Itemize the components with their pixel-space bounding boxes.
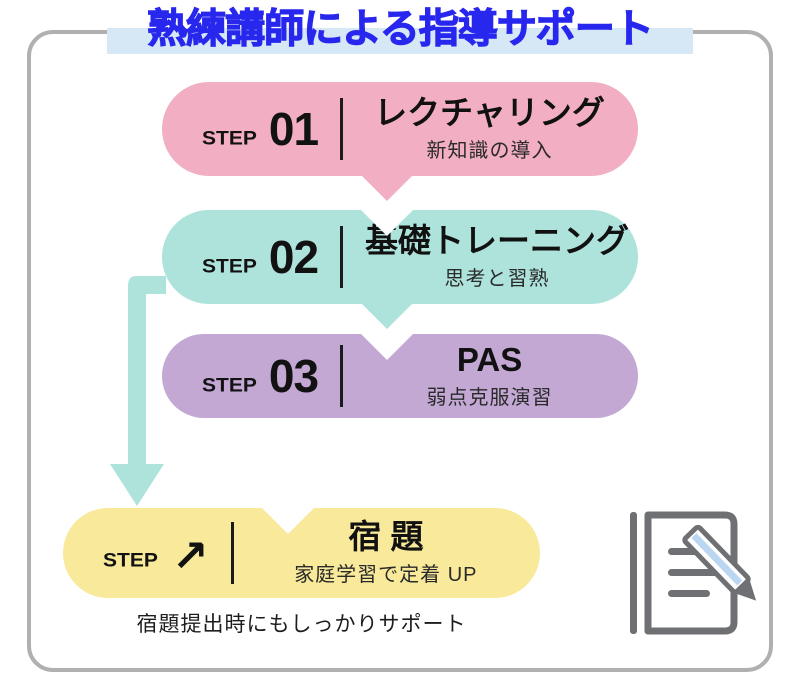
step-03-label: STEP 03 [162,353,318,399]
step-card-homework-top-notch [262,508,314,534]
notebook-pencil-icon [624,496,784,651]
step-01-label: STEP 01 [162,106,318,152]
step-word: STEP [103,550,158,572]
step-number: 02 [269,234,318,280]
step-03-divider [340,345,343,407]
step-card-01[interactable]: STEP 01 レクチャリング 新知識の導入 [162,82,638,176]
step-01-heading: レクチャリング [365,95,614,131]
step-homework-subheading: 家庭学習で定着 UP [256,558,516,587]
step-word: STEP [202,128,257,150]
step-number: 03 [269,353,318,399]
step-02-divider [340,226,343,288]
step-word: STEP [202,256,257,278]
step-01-subheading: 新知識の導入 [365,134,614,163]
step-number: 01 [269,106,318,152]
arrow-down-step02-icon [361,303,413,329]
step-01-text: レクチャリング 新知識の導入 [365,95,638,164]
title-text: 熟練講師による指導サポート [147,2,653,56]
arrow-down-step01-icon [361,175,413,201]
step-card-02-top-notch [361,210,413,236]
step-03-subheading: 弱点克服演習 [365,381,614,410]
step-homework-label: STEP ↗ [63,531,209,575]
step-homework-divider [231,522,234,584]
step-02-subheading: 思考と習熟 [365,262,629,291]
diagram-canvas: 熟練講師による指導サポート STEP 01 レクチャリング 新知識の導入 STE… [0,0,800,692]
support-caption: 宿題提出時にもしっかりサポート [63,608,540,638]
step-word: STEP [202,375,257,397]
step-card-03-top-notch [361,334,413,360]
step-01-divider [340,98,343,160]
arrow-up-right-icon: ↗ [172,535,209,579]
step-02-label: STEP 02 [162,234,318,280]
page-title: 熟練講師による指導サポート [0,2,800,58]
